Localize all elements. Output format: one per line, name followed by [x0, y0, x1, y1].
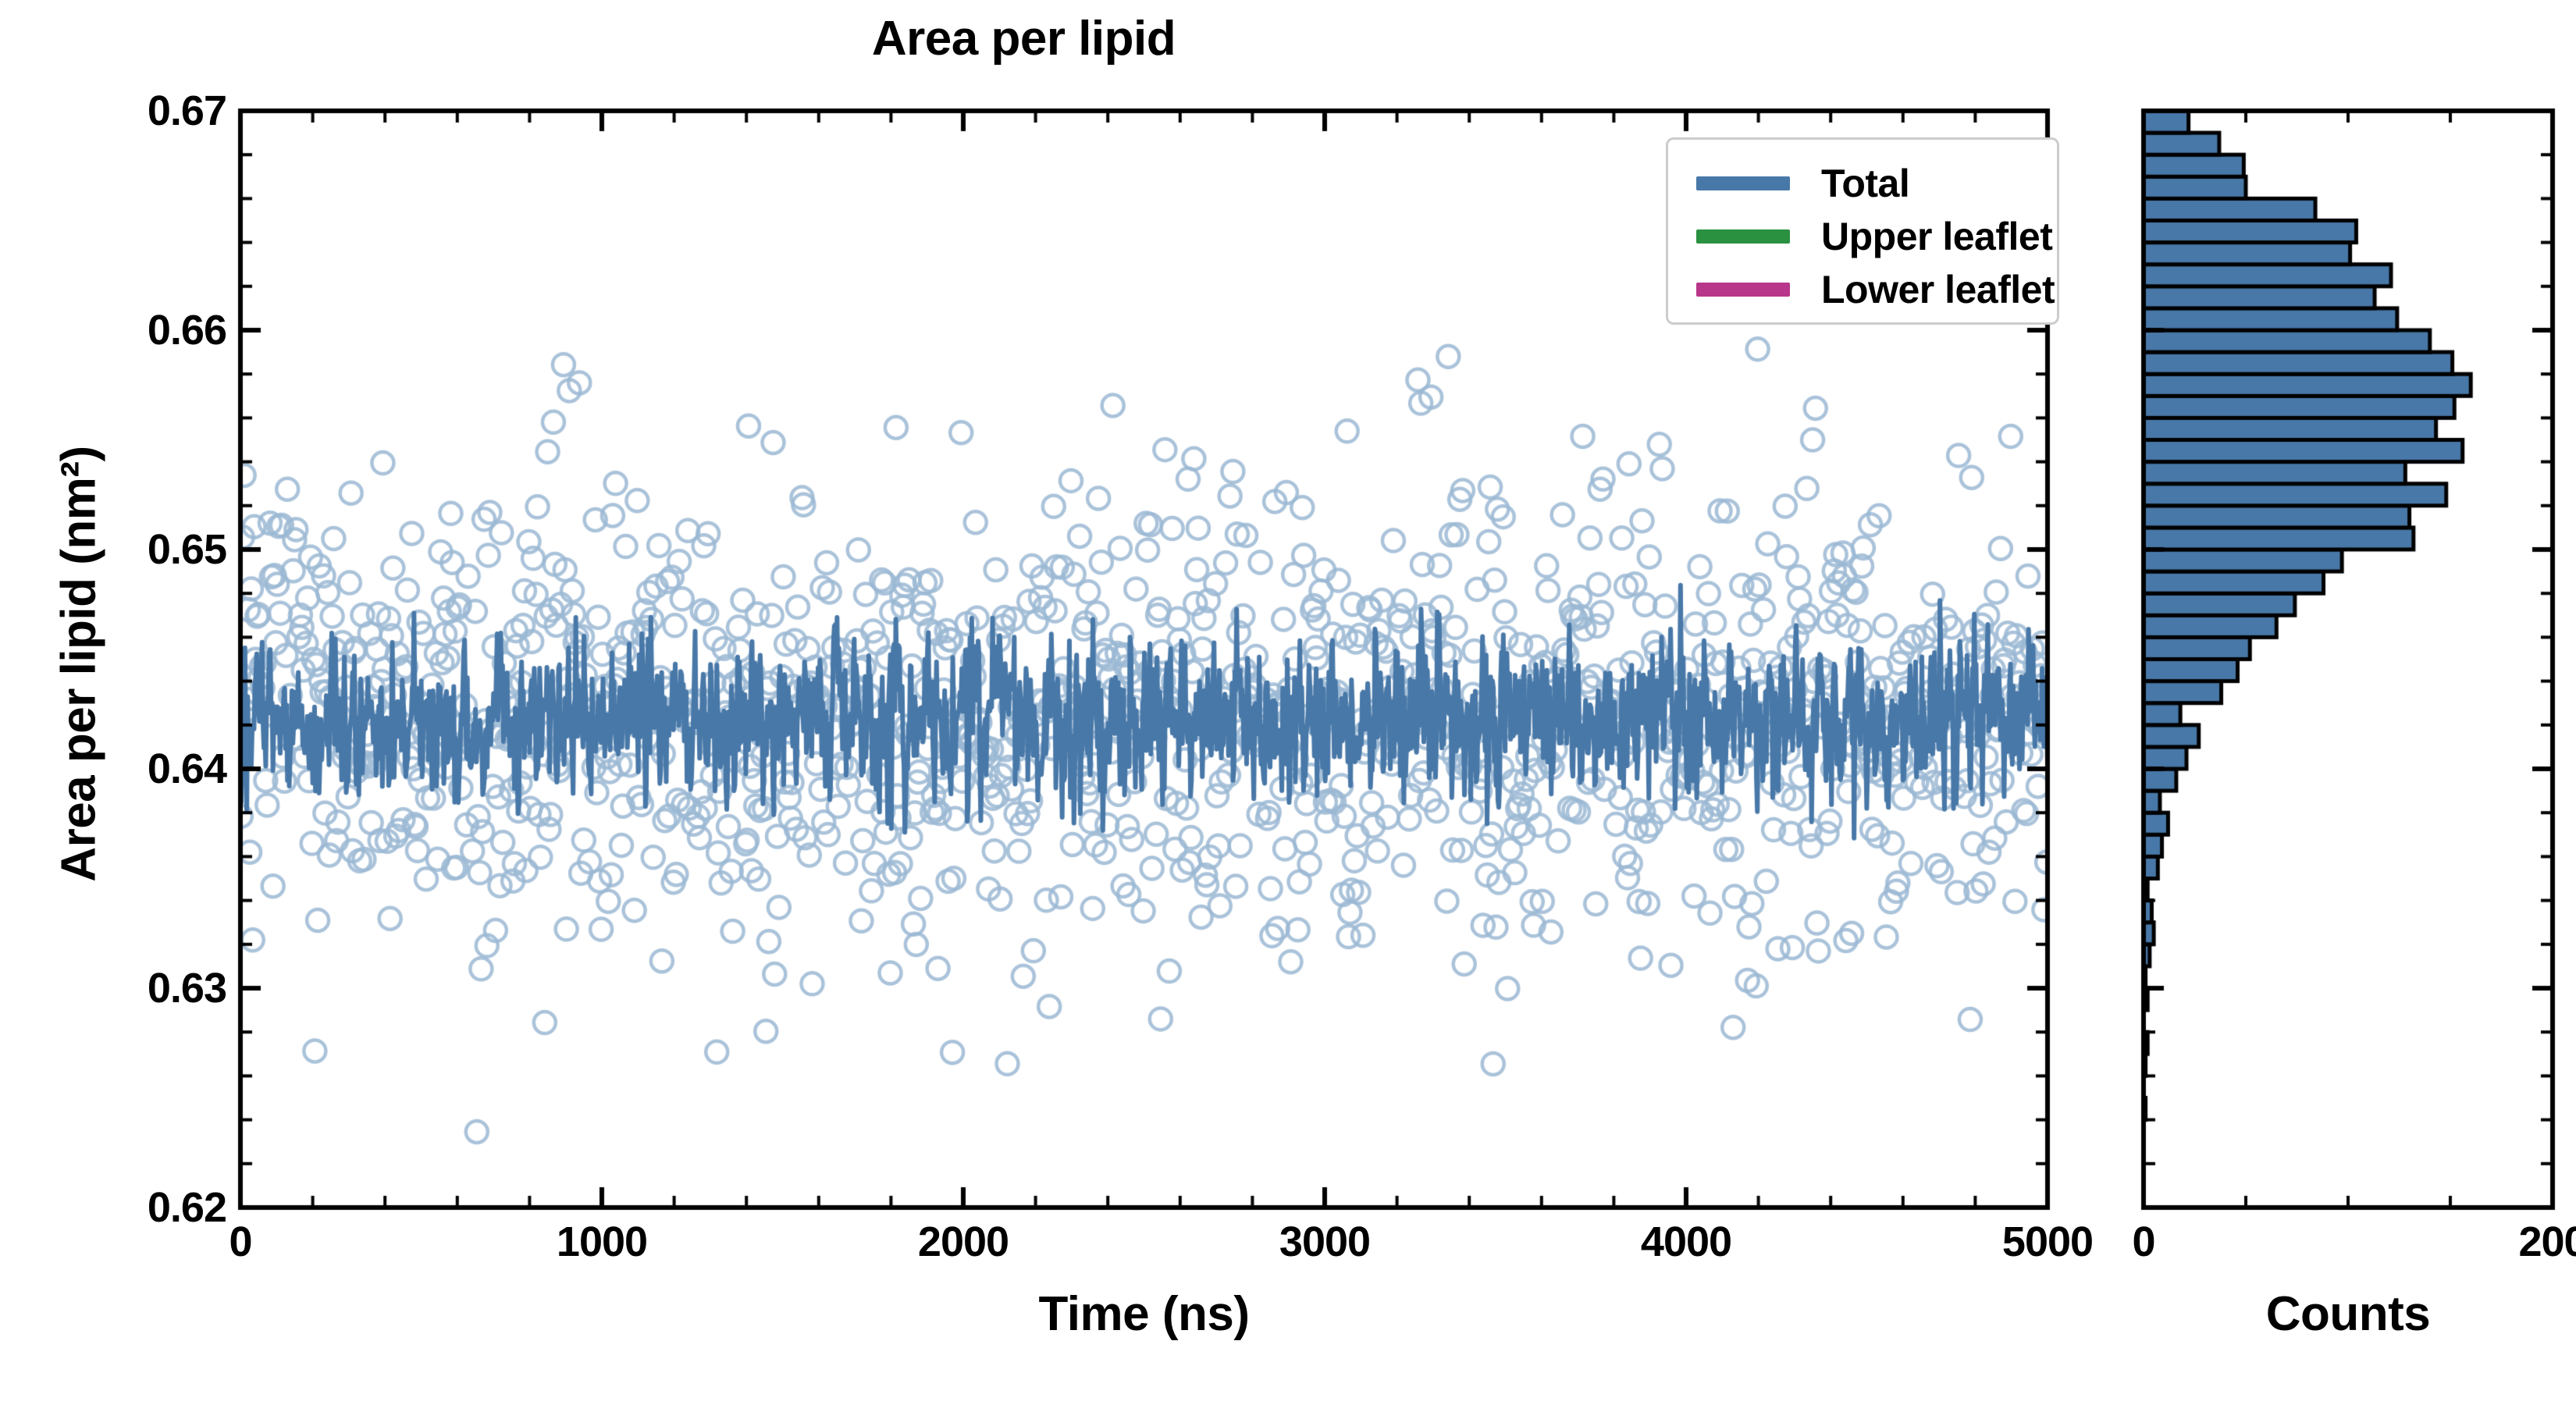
figure-canvas-area: Area per lipid Time (ns) Area per lipid … — [0, 0, 2576, 1405]
x-tick-label: 5000 — [2002, 1218, 2093, 1266]
histogram-x-axis-label: Counts — [2144, 1286, 2553, 1342]
legend-color-swatch — [1696, 283, 1790, 297]
legend-item: Lower leaflet — [1668, 263, 2057, 316]
y-tick-label: 0.64 — [62, 745, 226, 793]
legend-label: Upper leaflet — [1821, 217, 2052, 256]
x-tick-label: 2000 — [918, 1218, 1009, 1266]
x-tick-label: 0 — [229, 1218, 251, 1266]
histogram-x-tick-label: 0 — [2132, 1218, 2154, 1266]
y-tick-label: 0.67 — [62, 87, 226, 135]
chart-title: Area per lipid — [0, 11, 2048, 66]
y-tick-label: 0.63 — [62, 964, 226, 1012]
y-tick-label: 0.62 — [62, 1183, 226, 1232]
legend-item: Upper leaflet — [1668, 210, 2057, 263]
x-tick-label: 3000 — [1279, 1218, 1370, 1266]
legend-color-swatch — [1696, 229, 1790, 244]
histogram-x-tick-label: 200 — [2518, 1218, 2576, 1266]
legend-label: Lower leaflet — [1821, 270, 2055, 309]
legend-item: Total — [1668, 157, 2057, 210]
y-axis-label: Area per lipid (nm²) — [52, 274, 107, 1055]
x-axis-label: Time (ns) — [240, 1286, 2048, 1342]
y-tick-label: 0.66 — [62, 306, 226, 354]
x-tick-label: 4000 — [1641, 1218, 1731, 1266]
legend-color-swatch — [1696, 176, 1790, 190]
chart-legend: TotalUpper leafletLower leaflet — [1666, 137, 2059, 325]
chart-canvas — [0, 0, 2576, 1405]
legend-label: Total — [1821, 164, 1909, 203]
y-tick-label: 0.65 — [62, 525, 226, 574]
x-tick-label: 1000 — [557, 1218, 647, 1266]
